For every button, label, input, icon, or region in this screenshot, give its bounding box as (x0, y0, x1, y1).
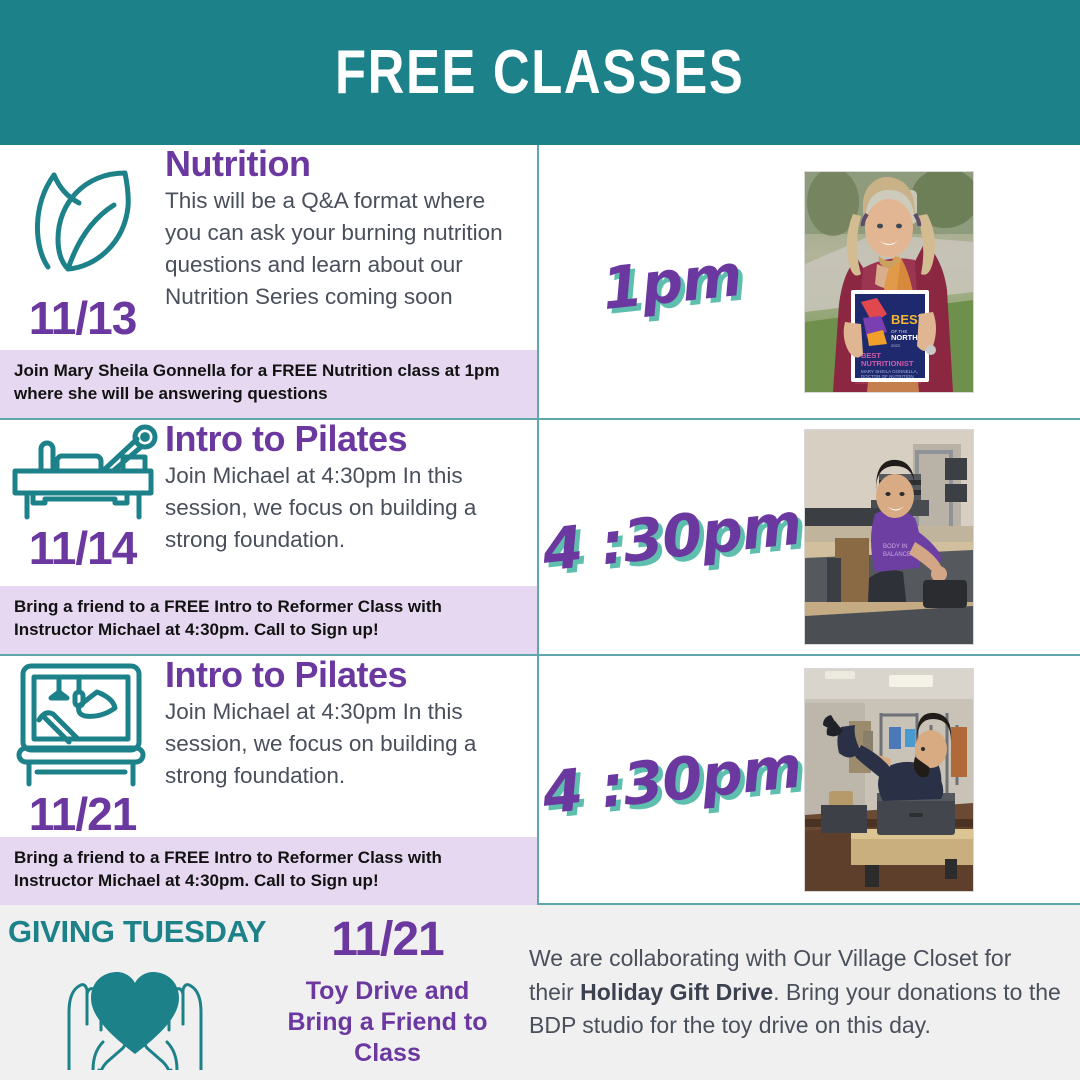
class-banner: Bring a friend to a FREE Intro to Reform… (0, 586, 537, 654)
class-title: Intro to Pilates (165, 420, 523, 458)
class-banner: Bring a friend to a FREE Intro to Reform… (0, 837, 537, 905)
svg-text:2023: 2023 (891, 343, 901, 348)
leaf-icon (0, 145, 165, 295)
class-date: 11/13 (29, 295, 137, 341)
class-title: Nutrition (165, 145, 523, 183)
class-time-wrap: 4 :30pm (539, 503, 804, 571)
class-rows: 11/13 Nutrition This will be a Q&A forma… (0, 145, 1080, 905)
icon-and-date: 11/14 (0, 420, 165, 586)
class-time-wrap: 4 :30pm (539, 746, 804, 814)
class-text-block: Intro to Pilates Join Michael at 4:30pm … (165, 420, 537, 586)
class-info-column: 11/13 Nutrition This will be a Q&A forma… (0, 145, 539, 418)
class-photo (804, 668, 974, 892)
class-time: 4 :30pm (539, 490, 804, 585)
class-date: 11/14 (29, 525, 137, 571)
svg-text:BODY IN: BODY IN (883, 544, 908, 550)
class-time: 1pm (599, 240, 745, 322)
class-time: 4 :30pm (539, 732, 804, 827)
class-text-block: Intro to Pilates Join Michael at 4:30pm … (165, 656, 537, 837)
giving-subtitle: Toy Drive and Bring a Friend to Class (270, 976, 505, 1070)
class-media-column: 4 :30pm (539, 420, 1080, 654)
free-classes-poster: FREE CLASSES (0, 0, 1080, 1080)
class-row: 11/13 Nutrition This will be a Q&A forma… (0, 145, 1080, 420)
class-title: Intro to Pilates (165, 656, 523, 694)
svg-text:NUTRITIONIST: NUTRITIONIST (861, 359, 914, 368)
hands-holding-heart-icon (47, 950, 223, 1075)
class-description: This will be a Q&A format where you can … (165, 185, 523, 313)
giving-date-block: 11/21 Toy Drive and Bring a Friend to Cl… (270, 916, 505, 1070)
class-row: 11/21 Intro to Pilates Join Michael at 4… (0, 656, 1080, 905)
class-date: 11/21 (29, 791, 137, 837)
svg-text:DOCTOR OF NUTRITION: DOCTOR OF NUTRITION (861, 374, 914, 379)
page-title: FREE CLASSES (335, 37, 745, 108)
giving-subtitle-line1: Toy Drive and (270, 976, 505, 1007)
poster-header: FREE CLASSES (0, 0, 1080, 145)
class-media-column: 1pm (539, 145, 1080, 418)
class-description: Join Michael at 4:30pm In this session, … (165, 460, 523, 556)
class-text-block: Nutrition This will be a Q&A format wher… (165, 145, 537, 350)
giving-subtitle-line2: Bring a Friend to Class (270, 1007, 505, 1070)
icon-and-date: 11/21 (0, 656, 165, 837)
class-description: Join Michael at 4:30pm In this session, … (165, 696, 523, 792)
class-time-wrap: 1pm (539, 248, 804, 316)
giving-tuesday-label: GIVING TUESDAY (0, 914, 266, 950)
class-media-column: 4 :30pm (539, 656, 1080, 903)
class-banner: Join Mary Sheila Gonnella for a FREE Nut… (0, 350, 537, 418)
class-row: 11/14 Intro to Pilates Join Michael at 4… (0, 420, 1080, 656)
cadillac-icon (0, 656, 165, 791)
class-info-column: 11/21 Intro to Pilates Join Michael at 4… (0, 656, 539, 903)
svg-text:BALANCE: BALANCE (883, 552, 911, 558)
class-info-column: 11/14 Intro to Pilates Join Michael at 4… (0, 420, 539, 654)
giving-brand-block: GIVING TUESDAY (0, 910, 270, 1075)
class-photo: BEST OF THE NORTH BAY 2023 BEST NUTRITIO… (804, 171, 974, 393)
icon-and-date: 11/13 (0, 145, 165, 350)
giving-description: We are collaborating with Our Village Cl… (505, 942, 1080, 1042)
giving-description-bold: Holiday Gift Drive (580, 979, 773, 1005)
giving-tuesday-section: GIVING TUESDAY (0, 905, 1080, 1080)
class-photo: BODY IN BALANCE (804, 429, 974, 645)
giving-date: 11/21 (270, 916, 505, 964)
reformer-icon (0, 420, 165, 525)
